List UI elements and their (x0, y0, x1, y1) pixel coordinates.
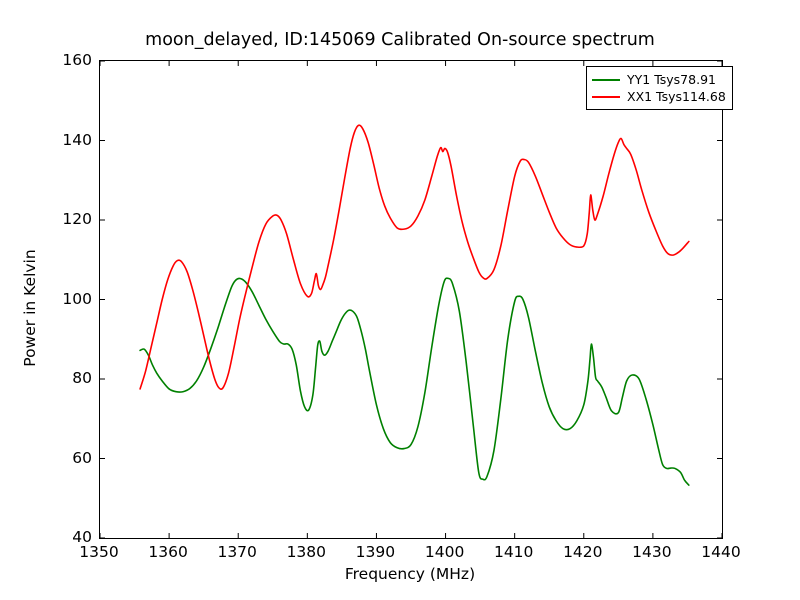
legend-color-swatch (592, 79, 620, 81)
legend-label: XX1 Tsys114.68 (627, 89, 726, 104)
xtick-label: 1420 (543, 543, 623, 561)
legend-item: YY1 Tsys78.91 (592, 71, 726, 88)
legend-item: XX1 Tsys114.68 (592, 88, 726, 105)
x-axis-label: Frequency (MHz) (99, 565, 721, 583)
xtick-label: 1440 (681, 543, 761, 561)
series-line (140, 278, 689, 485)
axis-tick-marks (100, 61, 722, 538)
chart-title: moon_delayed, ID:145069 Calibrated On-so… (0, 30, 800, 50)
y-axis-tick-labels: 160 140 120 100 80 60 40 (46, 0, 92, 600)
legend: YY1 Tsys78.91 XX1 Tsys114.68 (586, 66, 733, 110)
figure-canvas: moon_delayed, ID:145069 Calibrated On-so… (0, 0, 800, 600)
xtick-label: 1400 (405, 543, 485, 561)
ytick-label: 140 (52, 131, 92, 149)
xtick-label: 1410 (474, 543, 554, 561)
legend-color-swatch (592, 96, 620, 98)
ytick-label: 120 (52, 210, 92, 228)
ytick-label: 160 (52, 51, 92, 69)
ytick-label: 100 (52, 290, 92, 308)
series-line (140, 125, 689, 389)
plot-area (99, 60, 723, 539)
xtick-label: 1380 (266, 543, 346, 561)
xtick-label: 1350 (59, 543, 139, 561)
plot-svg (100, 61, 722, 538)
xtick-label: 1370 (197, 543, 277, 561)
xtick-label: 1360 (128, 543, 208, 561)
y-axis-label: Power in Kelvin (21, 218, 39, 398)
xtick-label: 1390 (335, 543, 415, 561)
legend-label: YY1 Tsys78.91 (627, 72, 716, 87)
ytick-label: 60 (52, 449, 92, 467)
data-series-layer (140, 125, 689, 485)
xtick-label: 1430 (612, 543, 692, 561)
ytick-label: 80 (52, 369, 92, 387)
